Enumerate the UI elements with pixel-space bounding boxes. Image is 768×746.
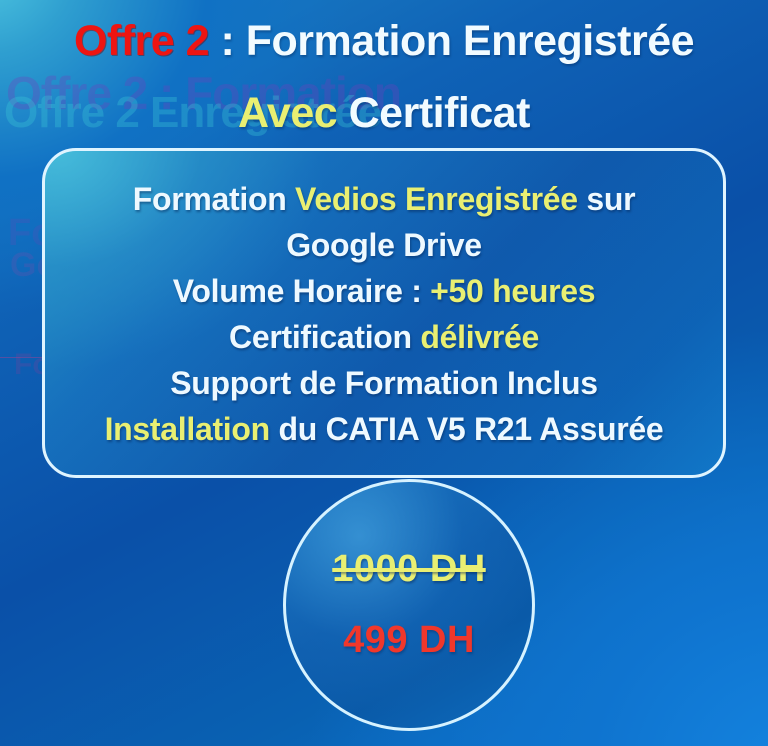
- feature-4-text-a: Certification: [229, 319, 420, 355]
- offer-details-card: Formation Vedios Enregistrée sur Google …: [42, 148, 726, 478]
- feature-line-1: Formation Vedios Enregistrée sur: [133, 176, 636, 222]
- feature-5-text-a: Support de Formation Inclus: [170, 365, 597, 401]
- page-title-line-1: Offre 2 : Formation Enregistrée: [0, 20, 768, 63]
- feature-2-text-a: Google Drive: [286, 227, 482, 263]
- feature-4-highlight: délivrée: [420, 319, 539, 355]
- feature-1-text-a: Formation: [133, 181, 295, 217]
- offer-title-label: : Formation Enregistrée: [209, 17, 694, 65]
- discounted-price-label: 499 DH: [343, 619, 475, 662]
- feature-line-2: Google Drive: [286, 222, 482, 268]
- original-price-label: 1000 DH: [332, 548, 485, 591]
- feature-line-3: Volume Horaire : +50 heures: [173, 268, 596, 314]
- offer-number-label: Offre 2: [74, 17, 209, 65]
- feature-line-4: Certification délivrée: [229, 314, 539, 360]
- promotional-poster: Offre 2 : Formation Offre 2 Enregistrée …: [0, 0, 768, 746]
- feature-1-highlight: Vedios Enregistrée: [295, 181, 578, 217]
- feature-6-highlight: Installation: [105, 411, 270, 447]
- price-badge-circle: 1000 DH 499 DH: [283, 479, 535, 731]
- feature-line-6: Installation du CATIA V5 R21 Assurée: [105, 406, 664, 452]
- feature-3-text-a: Volume Horaire :: [173, 273, 430, 309]
- feature-3-highlight: +50 heures: [430, 273, 595, 309]
- feature-line-5: Support de Formation Inclus: [170, 360, 597, 406]
- feature-1-text-b: sur: [578, 181, 636, 217]
- feature-6-text-b: du CATIA V5 R21 Assurée: [270, 411, 664, 447]
- page-title-line-2: Avec Certificat: [0, 92, 768, 135]
- title-certificat-label: Certificat: [337, 89, 530, 137]
- title-avec-label: Avec: [238, 89, 337, 137]
